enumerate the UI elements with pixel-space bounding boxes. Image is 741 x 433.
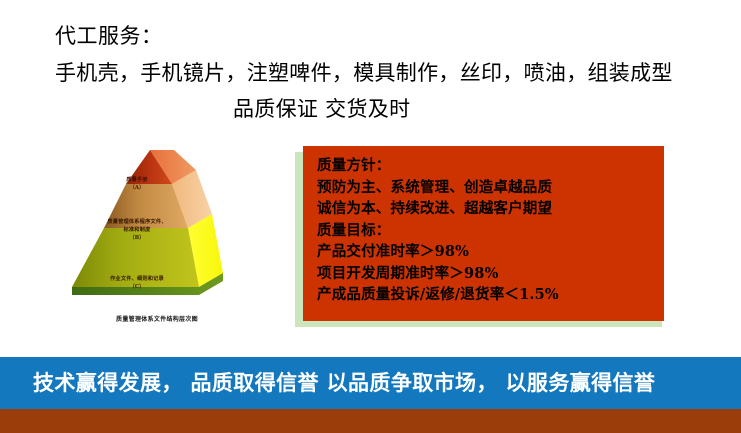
quality-document-pyramid: 质量手册 （A） 质量管理体系程序文件、 标准和制度 （B） 作业文件、细则和记… bbox=[62, 148, 252, 330]
slogan-banner: 技术赢得发展， 品质取得信誉 以品质争取市场， 以服务赢得信誉 bbox=[0, 357, 741, 409]
policy-line-4: 质量目标： bbox=[317, 220, 664, 242]
pyramid-tier-b-label: 质量管理体系程序文件、 标准和制度 （B） bbox=[62, 218, 212, 242]
pyramid-tier-b-sub: （B） bbox=[62, 234, 212, 242]
banner-footer-strip bbox=[0, 409, 741, 433]
pyramid-tier-a-title: 质量手册 bbox=[62, 176, 212, 184]
slogan-text: 技术赢得发展， 品质取得信誉 以品质争取市场， 以服务赢得信誉 bbox=[33, 367, 655, 397]
pyramid-caption: 质量管理体系文件结构层次图 bbox=[62, 314, 252, 323]
policy-line-6: 项目开发周期准时率＞98% bbox=[317, 263, 664, 285]
pyramid-tier-a-sub: （A） bbox=[62, 184, 212, 192]
pyramid-tier-c-sub: （C） bbox=[62, 283, 212, 291]
pyramid-tier-b-title-2: 标准和制度 bbox=[62, 226, 212, 234]
policy-line-1: 质量方针： bbox=[317, 155, 664, 177]
heading-line-3: 品质保证 交货及时 bbox=[233, 93, 410, 123]
pyramid-tier-a-label: 质量手册 （A） bbox=[62, 176, 212, 192]
quality-policy-panel: 质量方针： 预防为主、系统管理、创造卓越品质 诚信为本、持续改进、超越客户期望 … bbox=[303, 146, 664, 321]
policy-line-2: 预防为主、系统管理、创造卓越品质 bbox=[317, 177, 664, 199]
slide-canvas: 代工服务： 手机壳，手机镜片，注塑啤件，模具制作，丝印，喷油，组装成型 品质保证… bbox=[0, 0, 741, 433]
pyramid-tier-c-title: 作业文件、细则和记录 bbox=[62, 275, 212, 283]
pyramid-tier-c-label: 作业文件、细则和记录 （C） bbox=[62, 275, 212, 291]
pyramid-tier-b-title: 质量管理体系程序文件、 bbox=[62, 218, 212, 226]
policy-line-5: 产品交付准时率＞98% bbox=[317, 241, 664, 263]
policy-line-7: 产成品质量投诉/返修/退货率＜1.5% bbox=[317, 284, 664, 306]
heading-line-1: 代工服务： bbox=[55, 20, 163, 50]
policy-line-3: 诚信为本、持续改进、超越客户期望 bbox=[317, 198, 664, 220]
heading-line-2: 手机壳，手机镜片，注塑啤件，模具制作，丝印，喷油，组装成型 bbox=[55, 57, 673, 87]
